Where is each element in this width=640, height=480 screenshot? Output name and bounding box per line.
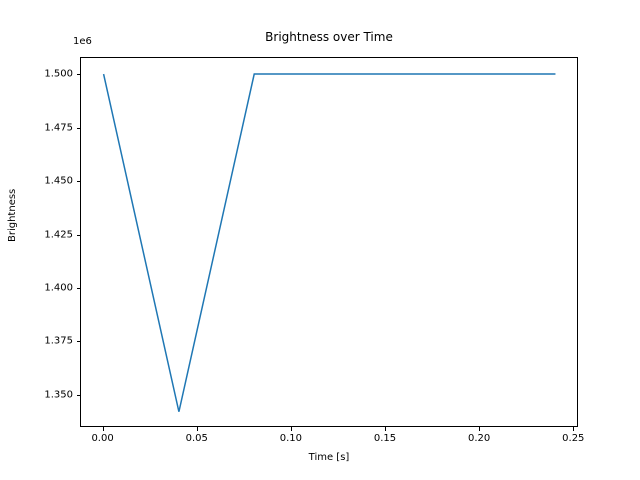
x-tick-mark xyxy=(197,427,198,431)
x-tick-mark xyxy=(573,427,574,431)
y-tick-mark xyxy=(77,235,81,236)
y-tick-label: 1.400 xyxy=(44,282,73,293)
y-axis-label: Brightness xyxy=(7,189,18,242)
x-tick-mark xyxy=(385,427,386,431)
plot-axes xyxy=(80,57,578,427)
x-axis-label: Time [s] xyxy=(80,452,578,463)
y-tick-label: 1.475 xyxy=(44,122,73,133)
y-tick-mark xyxy=(77,341,81,342)
x-tick-label: 0.15 xyxy=(374,433,396,444)
x-tick-mark xyxy=(479,427,480,431)
data-line-series xyxy=(81,58,579,428)
x-tick-mark xyxy=(291,427,292,431)
y-tick-mark xyxy=(77,74,81,75)
x-tick-label: 0.25 xyxy=(562,433,584,444)
x-tick-label: 0.10 xyxy=(280,433,302,444)
y-tick-label: 1.350 xyxy=(44,389,73,400)
page-title: Brightness over Time xyxy=(80,30,578,44)
y-tick-mark xyxy=(77,288,81,289)
y-tick-label: 1.375 xyxy=(44,336,73,347)
x-tick-label: 0.05 xyxy=(186,433,208,444)
x-tick-mark xyxy=(103,427,104,431)
x-tick-label: 0.20 xyxy=(468,433,490,444)
brightness-line xyxy=(104,74,556,412)
y-tick-label: 1.425 xyxy=(44,229,73,240)
y-tick-mark xyxy=(77,128,81,129)
y-tick-mark xyxy=(77,395,81,396)
y-tick-label: 1.450 xyxy=(44,176,73,187)
y-axis-offset-label: 1e6 xyxy=(73,36,92,47)
x-tick-label: 0.00 xyxy=(91,433,113,444)
matplotlib-figure: Brightness over Time 1e6 0.000.050.100.1… xyxy=(0,0,640,480)
y-tick-mark xyxy=(77,181,81,182)
y-tick-label: 1.500 xyxy=(44,69,73,80)
